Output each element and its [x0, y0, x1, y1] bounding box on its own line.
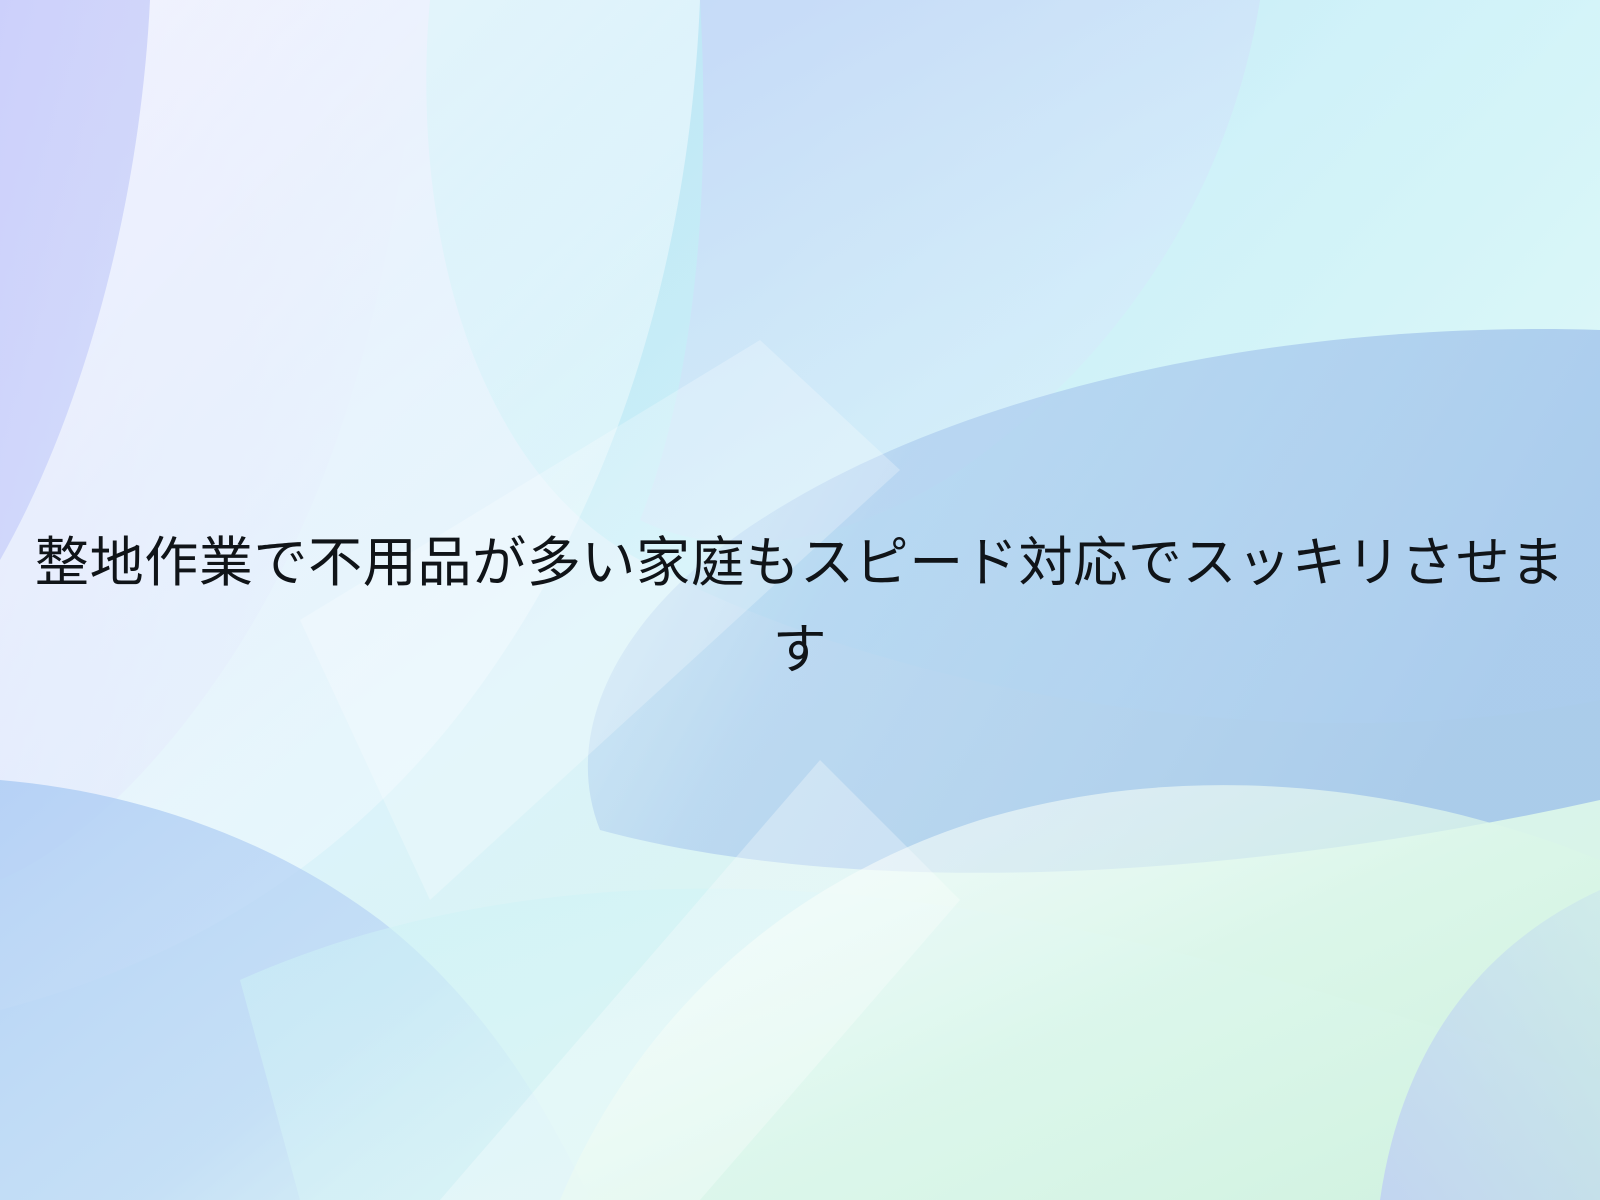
- slide-canvas: 整地作業で不用品が多い家庭もスピード対応でスッキリさせます: [0, 0, 1600, 1200]
- background-artwork: [0, 0, 1600, 1200]
